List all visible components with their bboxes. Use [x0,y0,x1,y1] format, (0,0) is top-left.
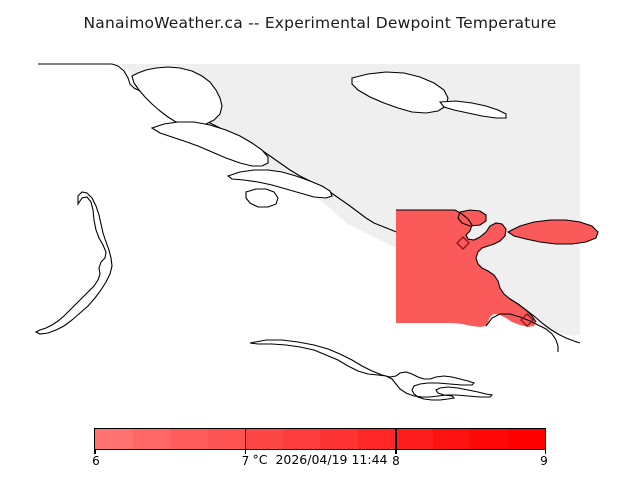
colorbar-wrap[interactable]: 6 7 8 9 [94,428,546,450]
map-panel[interactable] [0,46,640,406]
colorbar-band [470,429,508,449]
map-canvas[interactable] [0,46,640,406]
legend-caption: °C 2026/04/19 11:44 [0,452,640,467]
colorbar-tick-8 [395,428,397,450]
colorbar-band [133,429,171,449]
colorbar-band [433,429,471,449]
title-bar: NanaimoWeather.ca -- Experimental Dewpoi… [0,0,640,46]
colorbar-band [358,429,396,449]
page-title: NanaimoWeather.ca -- Experimental Dewpoi… [83,14,556,32]
colorbar-band [283,429,321,449]
colorbar-band [245,429,283,449]
colorbar-band [395,429,433,449]
weather-map-page: NanaimoWeather.ca -- Experimental Dewpoi… [0,0,640,480]
colorbar-tick-7 [245,428,247,450]
colorbar-band [208,429,246,449]
legend-panel: 6 7 8 9 °C 2026/04/19 11:44 [0,406,640,480]
colorbar-band [170,429,208,449]
colorbar-band [320,429,358,449]
colorbar[interactable] [94,428,546,450]
colorbar-band [95,429,133,449]
colorbar-band [508,429,546,449]
